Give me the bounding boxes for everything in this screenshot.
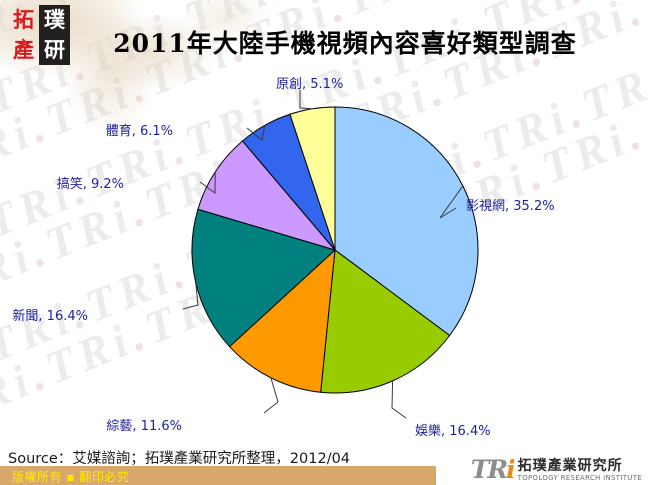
pie-slice-label: 搞笑, 9.2% [57, 178, 124, 191]
leader-line [392, 381, 406, 418]
pie-slice-label: 娛樂, 16.4% [415, 425, 491, 438]
pie-slice-label: 綜藝, 11.6% [106, 420, 182, 433]
leader-line [264, 378, 278, 413]
corp-name-block: 拓璞產業研究所 TOPOLOGY RESEARCH INSTITUTE [518, 459, 642, 482]
corp-name-chinese: 拓璞產業研究所 [518, 459, 642, 473]
pie-slice-label: 影視網, 35.2% [466, 200, 555, 213]
tri-wordmark: TRi [471, 457, 514, 482]
corp-name-english: TOPOLOGY RESEARCH INSTITUTE [518, 475, 642, 482]
pie-chart-svg [0, 60, 650, 445]
tri-corporate-logo: TRi 拓璞產業研究所 TOPOLOGY RESEARCH INSTITUTE [471, 456, 642, 484]
slide-canvas: TRi.TRi.TRi.TRi.TRi.TRi.TRi.TRi.TRi.TRi.… [0, 0, 650, 485]
page-title: 2011年大陸手機視頻內容喜好類型調查 [0, 24, 650, 60]
leader-line [183, 282, 198, 309]
pie-slice-label: 體育, 6.1% [106, 125, 173, 138]
pie-slice-label: 新聞, 16.4% [12, 310, 88, 323]
pie-chart: 影視網, 35.2%娛樂, 16.4%綜藝, 11.6%新聞, 16.4%搞笑,… [0, 60, 650, 445]
leader-line [300, 90, 312, 109]
copyright-bar: 版權所有 ▪ 翻印必究 [0, 466, 436, 485]
pie-slice-label: 原創, 5.1% [276, 78, 343, 91]
pie-slice-group [192, 107, 478, 393]
watermark-row: TRi.TRi.TRi.TRi.TRi.TRi.TRi.TRi.TRi. [0, 0, 650, 19]
copyright-text: 版權所有 ▪ 翻印必究 [12, 468, 129, 485]
source-note: Source：艾媒諮詢；拓璞產業研究所整理，2012/04 [8, 447, 350, 468]
